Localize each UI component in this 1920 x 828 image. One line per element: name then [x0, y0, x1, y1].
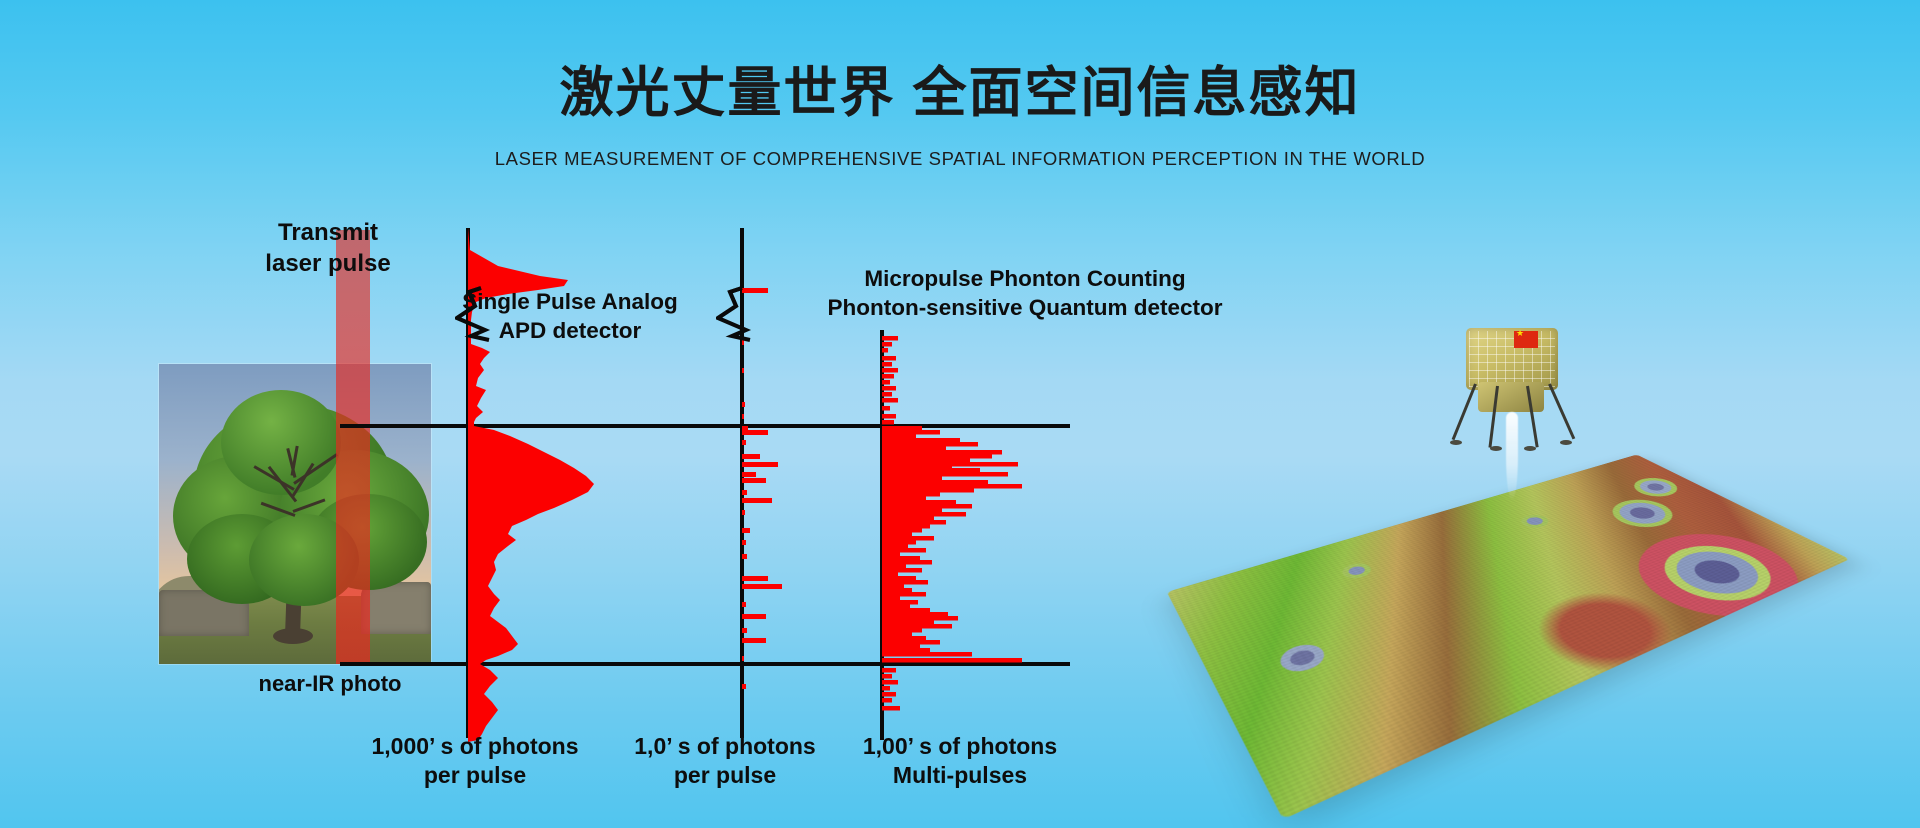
- waveform-bar: [882, 504, 972, 509]
- waveform-bar: [882, 572, 898, 577]
- waveform-bar: [882, 342, 892, 347]
- waveform-bar: [882, 356, 896, 361]
- waveform-bar: [882, 698, 892, 703]
- laser-beam: [336, 230, 370, 664]
- waveform-bar: [882, 438, 960, 443]
- waveform-bar: [882, 520, 946, 525]
- waveform-bar: [882, 362, 892, 367]
- waveform-bar: [882, 386, 896, 391]
- waveform-bar: [882, 492, 940, 497]
- waveform-bar: [742, 684, 746, 689]
- waveform-bar: [742, 498, 772, 503]
- waveform-bar: [882, 420, 894, 425]
- waveform-bar: [882, 668, 896, 673]
- waveform-bar: [882, 496, 926, 501]
- waveform-bar: [882, 488, 974, 493]
- waveform-bar: [882, 454, 992, 459]
- lunar-terrain-visualization: [1180, 320, 1920, 780]
- label-micropulse-photon-counting: Micropulse Phonton Counting Phonton-sens…: [790, 265, 1260, 323]
- waveform-bar: [882, 580, 928, 585]
- waveform-bar: [882, 644, 920, 649]
- waveform-bar: [882, 398, 898, 403]
- near-ir-photo: [159, 364, 431, 664]
- waveform-bar: [882, 564, 906, 569]
- waveform-bar: [882, 426, 922, 431]
- waveform-bar: [742, 440, 746, 445]
- label-near-ir-photo: near-IR photo: [215, 670, 445, 698]
- axis-break-icon-right: [716, 286, 776, 342]
- waveform-bar: [882, 468, 980, 473]
- waveform-bar: [882, 476, 942, 481]
- waveform-bar: [882, 604, 910, 609]
- waveform-bar: [742, 602, 746, 607]
- waveform-bar: [882, 552, 900, 557]
- waveform-bar: [882, 392, 892, 397]
- waveform-bar: [882, 368, 898, 373]
- waveform-bar: [882, 658, 1022, 663]
- waveform-bar: [742, 628, 747, 633]
- waveform-bar: [882, 406, 890, 411]
- page-subtitle: LASER MEASUREMENT OF COMPREHENSIVE SPATI…: [0, 148, 1920, 170]
- waveform-bar: [882, 336, 898, 341]
- china-flag-icon: [1514, 331, 1538, 348]
- caption-photons-per-pulse-left: 1,000’ s of photons per pulse: [330, 732, 620, 791]
- waveform-bar: [882, 472, 1008, 477]
- waveform-bar: [742, 430, 768, 435]
- waveform-bar: [882, 608, 930, 613]
- infographic-canvas: 激光丈量世界 全面空间信息感知 LASER MEASUREMENT OF COM…: [0, 0, 1920, 828]
- label-single-pulse-analog: Single Pulse Analog APD detector: [420, 288, 720, 346]
- waveform-bar: [882, 528, 922, 533]
- waveform-bar: [742, 462, 778, 467]
- waveform-bar: [882, 464, 952, 469]
- waveform-bar: [882, 484, 1022, 489]
- lander-foot-pad: [1560, 440, 1572, 445]
- waveform-bar: [742, 656, 744, 661]
- waveform-bar: [882, 600, 918, 605]
- label-transmit-laser-pulse: Transmit laser pulse: [233, 218, 423, 279]
- waveform-bar: [882, 458, 970, 463]
- waveform-bar: [742, 584, 782, 589]
- waveform-bar: [882, 576, 916, 581]
- waveform-micropulse-photon-counting: [880, 330, 1090, 740]
- caption-photons-multi-pulses: 1,00’ s of photons Multi-pulses: [835, 732, 1085, 791]
- waveform-bar: [882, 592, 926, 597]
- waveform-bar: [882, 508, 942, 513]
- lander-body: [1466, 328, 1558, 390]
- waveform-bar: [882, 612, 948, 617]
- waveform-bar: [742, 554, 747, 559]
- waveform-bar: [882, 434, 916, 439]
- waveform-bar: [882, 596, 900, 601]
- lander-leg: [1452, 383, 1477, 440]
- waveform-bar: [882, 568, 922, 573]
- waveform-bar: [742, 454, 760, 459]
- page-title: 激光丈量世界 全面空间信息感知: [0, 48, 1920, 127]
- waveform-bar: [882, 584, 904, 589]
- lander-lower-module: [1478, 382, 1544, 412]
- waveform-bar: [742, 614, 766, 619]
- waveform-bar: [882, 540, 916, 545]
- waveform-bar: [882, 516, 934, 521]
- waveform-bar: [882, 524, 930, 529]
- waveform-bar: [882, 624, 952, 629]
- waveform-bar: [882, 640, 940, 645]
- waveform-bar: [882, 636, 926, 641]
- waveform-bar: [882, 480, 988, 485]
- waveform-bar: [742, 510, 745, 515]
- colorized-elevation-model: [1167, 455, 1850, 820]
- waveform-bar: [882, 446, 946, 451]
- lunar-lander: [1452, 320, 1572, 470]
- waveform-bar: [742, 402, 745, 407]
- waveform-bar: [882, 692, 896, 697]
- lander-leg: [1548, 383, 1575, 439]
- waveform-bar: [882, 648, 930, 653]
- waveform-bar: [882, 380, 890, 385]
- waveform-bar: [882, 500, 956, 505]
- waveform-bar: [742, 414, 744, 419]
- waveform-bar: [742, 490, 747, 495]
- waveform-bar: [882, 512, 966, 517]
- waveform-bar: [882, 548, 926, 553]
- waveform-bar: [882, 680, 898, 685]
- waveform-bar: [882, 450, 1002, 455]
- waveform-bar: [882, 430, 940, 435]
- waveform-bar: [882, 628, 922, 633]
- waveform-bar: [882, 532, 912, 537]
- waveform-bar: [882, 536, 934, 541]
- waveform-bars-shape: [882, 330, 1092, 740]
- waveform-bar: [882, 686, 890, 691]
- waveform-bar: [742, 576, 768, 581]
- waveform-bar: [882, 348, 888, 353]
- waveform-bar: [882, 560, 932, 565]
- caption-photons-per-pulse-mid: 1,0’ s of photons per pulse: [600, 732, 850, 791]
- waveform-bar: [742, 638, 766, 643]
- waveform-bar: [882, 414, 896, 419]
- engine-plume: [1506, 412, 1518, 500]
- waveform-bar: [882, 674, 892, 679]
- lander-foot-pad: [1450, 440, 1462, 445]
- waveform-bar: [882, 442, 978, 447]
- waveform-bar: [882, 620, 934, 625]
- lander-foot-pad: [1524, 446, 1536, 451]
- waveform-bar: [882, 588, 912, 593]
- waveform-bar: [882, 706, 900, 711]
- waveform-bar: [882, 544, 908, 549]
- waveform-bar: [882, 632, 912, 637]
- waveform-bar: [742, 368, 744, 373]
- waveform-bar: [742, 472, 756, 477]
- waveform-bar: [882, 374, 894, 379]
- waveform-bar: [882, 616, 958, 621]
- waveform-bar: [882, 652, 972, 657]
- waveform-bar: [882, 556, 920, 561]
- waveform-bar: [742, 528, 750, 533]
- waveform-bar: [742, 478, 766, 483]
- waveform-bar: [742, 540, 746, 545]
- lander-foot-pad: [1490, 446, 1502, 451]
